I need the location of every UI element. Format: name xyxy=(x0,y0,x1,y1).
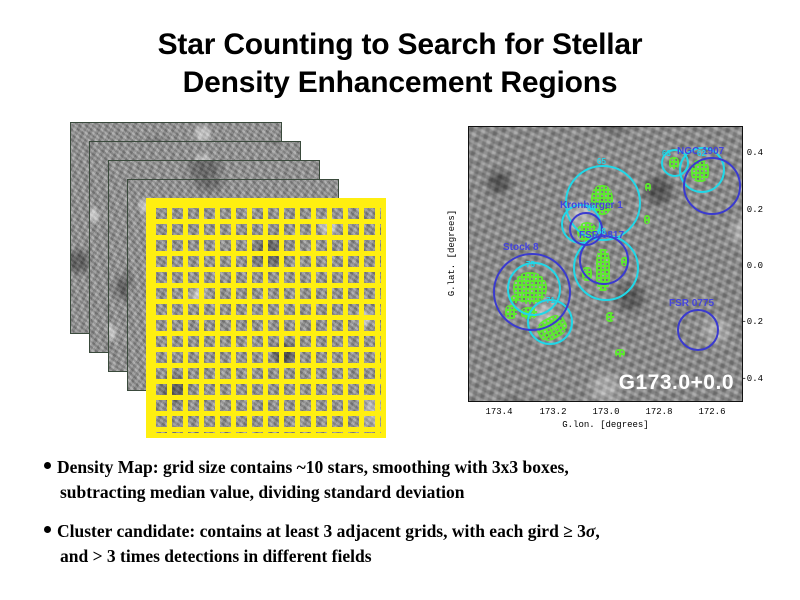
detection-blob xyxy=(606,312,614,322)
x-tick-label: 173.0 xyxy=(586,407,626,417)
density-map-figure: 0.4 0.2 0.0 -0.2 -0.4 G.lat. [degrees] xyxy=(433,118,763,436)
gridded-star-field-frame xyxy=(146,198,386,438)
slide-canvas: Star Counting to Search for Stellar Dens… xyxy=(0,0,800,600)
cluster-label-stock8: Stock 8 xyxy=(503,243,539,253)
detection-label-75: 75 xyxy=(526,261,535,269)
x-tick-label: 173.4 xyxy=(479,407,519,417)
sigma-symbol: σ xyxy=(586,521,595,541)
bullet-dot-icon xyxy=(44,526,51,533)
detection-blob xyxy=(644,215,650,224)
known-cluster-circle xyxy=(683,157,741,215)
bullet-item-cluster-candidate: Cluster candidate: contains at least 3 a… xyxy=(44,519,764,569)
detection-label-68: 68 xyxy=(597,228,606,236)
y-axis-label: G.lat. [degrees] xyxy=(447,188,457,318)
cluster-label-fsr0775: FSR 0775 xyxy=(669,299,714,309)
yellow-grid-overlay xyxy=(146,198,386,438)
bullet-line-1: Cluster candidate: contains at least 3 a… xyxy=(57,519,764,544)
detection-label-71: 71 xyxy=(546,297,555,305)
bullet-dot-icon xyxy=(44,462,51,469)
title-line-2: Density Enhancement Regions xyxy=(40,64,760,102)
field-name-label: G173.0+0.0 xyxy=(619,371,734,395)
x-tick-label: 172.6 xyxy=(692,407,732,417)
bullet-line-1: Density Map: grid size contains ~10 star… xyxy=(57,455,764,480)
bullet-item-density-map: Density Map: grid size contains ~10 star… xyxy=(44,455,764,505)
detection-label-69: 69 xyxy=(587,205,596,213)
known-cluster-circle xyxy=(677,309,719,351)
bullet-line-2: and > 3 times detections in different fi… xyxy=(57,544,764,569)
page-title: Star Counting to Search for Stellar Dens… xyxy=(40,26,760,102)
bullet-line-1-tail: , xyxy=(595,521,599,541)
detection-label-63: 63 xyxy=(662,150,671,158)
bullet-list: Density Map: grid size contains ~10 star… xyxy=(44,455,764,583)
bullet-line-1-text: Cluster candidate: contains at least 3 a… xyxy=(57,521,586,541)
x-tick-label: 173.2 xyxy=(533,407,573,417)
x-axis-label: G.lon. [degrees] xyxy=(468,420,743,430)
x-tick-label: 172.8 xyxy=(639,407,679,417)
detection-label-65: 65 xyxy=(597,158,606,166)
detection-label-62: 62 xyxy=(697,150,706,158)
density-map-plot: NGC 1907 63 62 65 Kronberger 1 FSR 0817 … xyxy=(468,126,743,402)
detection-blob xyxy=(645,183,651,191)
known-cluster-circle xyxy=(579,235,629,285)
bullet-line-2: subtracting median value, dividing stand… xyxy=(57,480,764,505)
detection-blob xyxy=(615,349,625,357)
image-stack xyxy=(70,122,400,440)
title-line-1: Star Counting to Search for Stellar xyxy=(158,28,643,61)
